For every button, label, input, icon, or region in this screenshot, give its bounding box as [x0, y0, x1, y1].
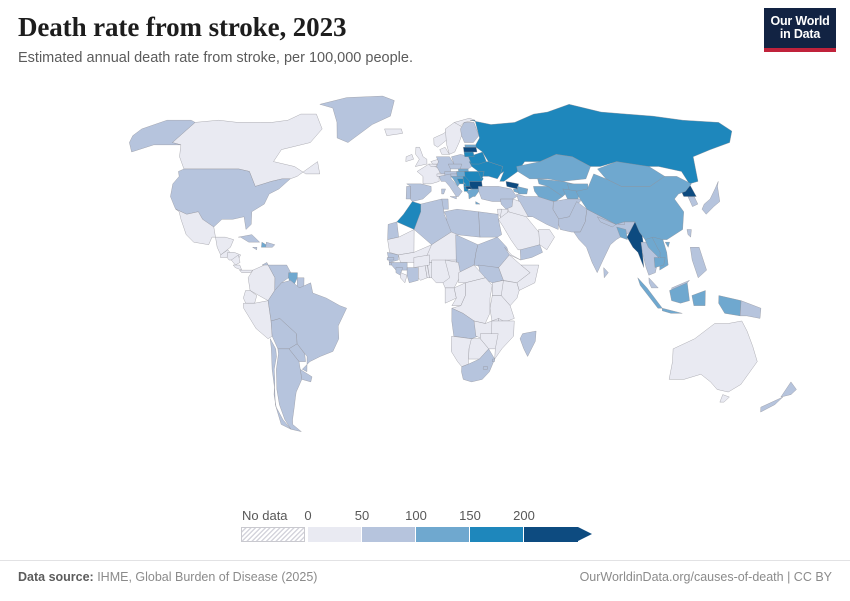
- legend-tick-150: 150: [459, 508, 481, 523]
- legend-bins[interactable]: [308, 527, 578, 542]
- country-peru[interactable]: Peru — 34: [243, 301, 272, 339]
- footer-attribution[interactable]: OurWorldinData.org/causes-of-death | CC …: [580, 570, 832, 584]
- country-latvia[interactable]: Latvia — 205: [463, 147, 477, 152]
- country-slovakia[interactable]: Slovakia — 103: [458, 169, 468, 171]
- map-legend: No data 050100150200: [236, 508, 626, 554]
- legend-no-data-swatch[interactable]: [241, 527, 305, 542]
- country-liberia[interactable]: Liberia — 48: [400, 273, 407, 283]
- country-lithuania[interactable]: Lithuania — 162: [464, 152, 474, 157]
- footer-source-text: IHME, Global Burden of Disease (2025): [94, 570, 318, 584]
- legend-tick-labels: 050100150200: [308, 508, 626, 524]
- country-greenland[interactable]: Greenland — 58: [320, 96, 394, 142]
- legend-tick-50: 50: [355, 508, 369, 523]
- owid-logo-line2: in Data: [780, 27, 820, 41]
- legend-bin-2[interactable]: [416, 527, 470, 542]
- country-taiwan[interactable]: Taiwan — 54: [687, 230, 691, 238]
- legend-arrow-icon: [578, 527, 592, 541]
- country-czechia[interactable]: Czechia — 74: [448, 164, 462, 169]
- country-ireland[interactable]: Ireland — 41: [406, 154, 414, 161]
- chart-header: Death rate from stroke, 2023 Estimated a…: [18, 10, 832, 67]
- legend-scale[interactable]: 050100150200: [308, 527, 626, 542]
- country-dominican-republic[interactable]: Dominican Republic — 68: [266, 242, 275, 247]
- legend-tick-200: 200: [513, 508, 535, 523]
- legend-bin-4[interactable]: [524, 527, 578, 542]
- legend-no-data-label: No data: [242, 508, 288, 523]
- world-map[interactable]: Canada — 23United States — 52Greenland —…: [0, 88, 850, 498]
- owid-logo[interactable]: Our World in Data: [764, 8, 836, 52]
- country-madagascar[interactable]: Madagascar — 72: [520, 331, 536, 356]
- country-haiti[interactable]: Haiti — 112: [261, 242, 266, 247]
- legend-bin-3[interactable]: [470, 527, 524, 542]
- country-japan[interactable]: Japan — 58: [702, 181, 720, 214]
- owid-logo-text: Our World in Data: [770, 15, 829, 42]
- country-georgia[interactable]: Georgia — 228: [506, 181, 519, 189]
- country-iceland[interactable]: Iceland — 34: [385, 129, 403, 136]
- legend-tick-0: 0: [304, 508, 311, 523]
- chart-footer: Data source: IHME, Global Burden of Dise…: [0, 560, 850, 601]
- country-australia[interactable]: Australia — 28: [669, 321, 757, 402]
- country-estonia[interactable]: Estonia — 112: [465, 145, 476, 147]
- country-new-zealand[interactable]: New Zealand — 51: [761, 382, 797, 412]
- owid-logo-line1: Our World: [770, 14, 829, 28]
- country-philippines[interactable]: Philippines — 88: [690, 247, 706, 278]
- legend-bin-1[interactable]: [362, 527, 416, 542]
- country-united-kingdom[interactable]: United Kingdom — 47: [415, 147, 427, 166]
- country-finland[interactable]: Finland — 53: [460, 122, 478, 142]
- country-papua-new-guinea[interactable]: Papua New Guinea — 78: [740, 301, 761, 319]
- country-gambia[interactable]: Gambia — 62: [387, 257, 394, 260]
- country-eswatini[interactable]: Eswatini — 60: [492, 359, 494, 362]
- country-namibia[interactable]: Namibia — 42: [451, 336, 471, 367]
- world-map-svg[interactable]: Canada — 23United States — 52Greenland —…: [0, 88, 850, 498]
- country-azerbaijan[interactable]: Azerbaijan — 132: [517, 186, 528, 194]
- footer-data-source: Data source: IHME, Global Burden of Dise…: [18, 570, 317, 584]
- country-western-sahara[interactable]: Western Sahara — 58: [388, 222, 399, 240]
- country-ivory-coast[interactable]: Ivory Coast — 66: [407, 268, 418, 283]
- country-panama[interactable]: Panama — 33: [240, 270, 253, 273]
- country-sri-lanka[interactable]: Sri Lanka — 72: [604, 268, 609, 278]
- legend-tick-100: 100: [405, 508, 427, 523]
- country-cuba[interactable]: Cuba — 70: [238, 235, 259, 243]
- country-egypt[interactable]: Egypt — 72: [478, 212, 501, 237]
- country-greece[interactable]: Greece — 106: [466, 189, 480, 204]
- country-lesotho[interactable]: Lesotho — 70: [483, 367, 488, 370]
- country-montenegro[interactable]: Montenegro — 172: [464, 184, 466, 187]
- country-south-korea[interactable]: South Korea — 52: [688, 197, 698, 207]
- country-oman[interactable]: Oman — 30: [539, 230, 555, 250]
- legend-bin-0[interactable]: [308, 527, 362, 542]
- page-title: Death rate from stroke, 2023: [18, 10, 832, 44]
- country-portugal[interactable]: Portugal — 66: [406, 186, 411, 199]
- owid-map-chart: Death rate from stroke, 2023 Estimated a…: [0, 0, 850, 600]
- page-subtitle: Estimated annual death rate from stroke,…: [18, 49, 832, 67]
- country-costa-rica[interactable]: Costa Rica — 28: [233, 265, 242, 270]
- footer-source-label: Data source:: [18, 570, 94, 584]
- country-jamaica[interactable]: Jamaica — 76: [253, 247, 257, 250]
- country-netherlands[interactable]: Netherlands — 40: [431, 159, 439, 164]
